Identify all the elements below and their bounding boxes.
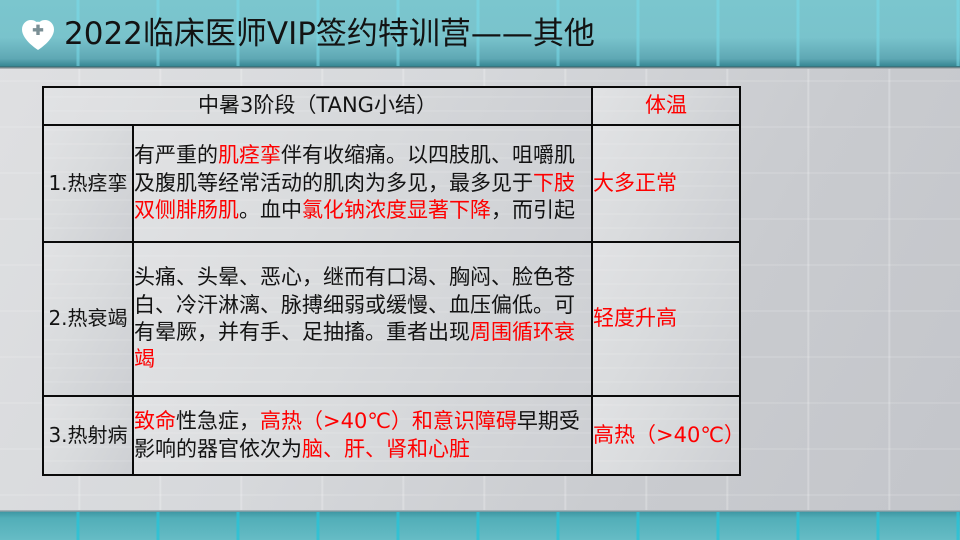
heat-illness-table: 中暑3阶段（TANG小结） 体温 1.热痉挛 有严重的肌痉挛伴有收缩痛。以四肢肌… xyxy=(42,86,741,476)
stage-temperature-1: 大多正常 xyxy=(592,125,740,242)
stage-label-1: 1.热痉挛 xyxy=(43,125,133,242)
table-header-temperature: 体温 xyxy=(592,87,740,125)
stage-label-2: 2.热衰竭 xyxy=(43,242,133,397)
stage-temperature-2: 轻度升高 xyxy=(592,242,740,397)
text-run-red: 致命 xyxy=(134,409,176,433)
text-run-black: 性急症， xyxy=(176,409,260,433)
text-run-black: ，而引起 xyxy=(491,198,575,222)
text-run-black: 。血中 xyxy=(239,198,302,222)
text-run-red: 脑、肝、肾和心脏 xyxy=(302,437,470,461)
table-row: 1.热痉挛 有严重的肌痉挛伴有收缩痛。以四肢肌、咀嚼肌及腹肌等经常活动的肌肉为多… xyxy=(43,125,740,242)
slide-header: 2022临床医师VIP签约特训营——其他 xyxy=(0,0,960,68)
table-header-row: 中暑3阶段（TANG小结） 体温 xyxy=(43,87,740,125)
slide-canvas: 2022临床医师VIP签约特训营——其他 中暑3阶段（TANG小结） 体温 1.… xyxy=(0,0,960,540)
text-run-red: 氯化钠浓度显著下降 xyxy=(302,198,491,222)
stage-temperature-3: 高热（>40℃） xyxy=(592,396,740,475)
heart-cross-icon xyxy=(18,15,58,55)
table-header-title: 中暑3阶段（TANG小结） xyxy=(43,87,592,125)
stage-description-2: 头痛、头晕、恶心，继而有口渴、胸闷、脸色苍白、冷汗淋漓、脉搏细弱或缓慢、血压偏低… xyxy=(133,242,592,397)
table-row: 3.热射病 致命性急症，高热（>40℃）和意识障碍早期受影响的器官依次为脑、肝、… xyxy=(43,396,740,475)
text-run-red: 肌痉挛 xyxy=(218,143,281,167)
summary-table-wrapper: 中暑3阶段（TANG小结） 体温 1.热痉挛 有严重的肌痉挛伴有收缩痛。以四肢肌… xyxy=(42,86,739,476)
text-run-black: 有严重的 xyxy=(134,143,218,167)
table-row: 2.热衰竭 头痛、头晕、恶心，继而有口渴、胸闷、脸色苍白、冷汗淋漓、脉搏细弱或缓… xyxy=(43,242,740,397)
stage-label-3: 3.热射病 xyxy=(43,396,133,475)
stage-description-1: 有严重的肌痉挛伴有收缩痛。以四肢肌、咀嚼肌及腹肌等经常活动的肌肉为多见，最多见于… xyxy=(133,125,592,242)
text-run-red: 高热（>40℃）和意识障碍 xyxy=(260,409,517,433)
bottom-accent-band xyxy=(0,512,960,540)
page-title: 2022临床医师VIP签约特训营——其他 xyxy=(64,19,595,50)
stage-description-3: 致命性急症，高热（>40℃）和意识障碍早期受影响的器官依次为脑、肝、肾和心脏 xyxy=(133,396,592,475)
